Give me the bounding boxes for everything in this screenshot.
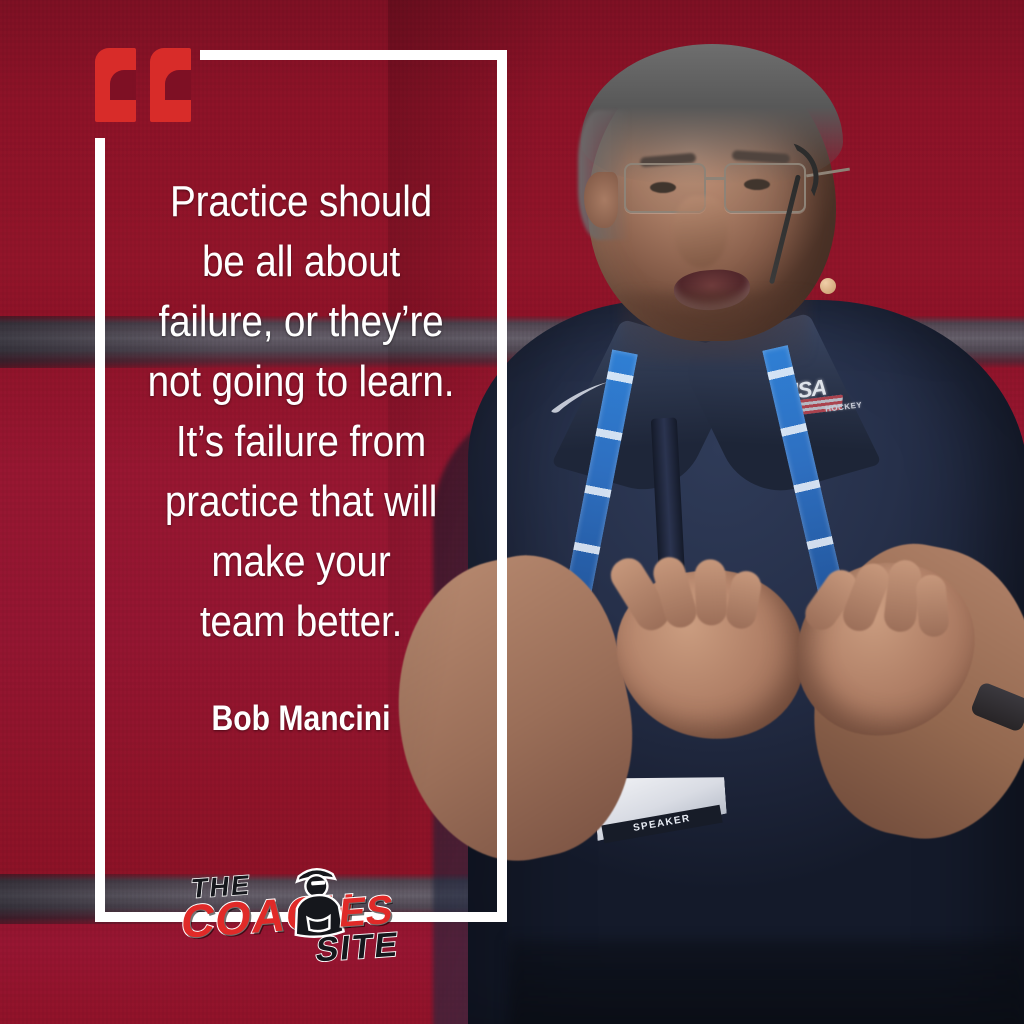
quote-block: Practice should be all about failure, or… xyxy=(108,172,494,740)
finger xyxy=(694,559,727,626)
quote-line: be all about xyxy=(131,232,471,292)
usa-patch-subtext: HOCKEY xyxy=(825,401,863,413)
quote-glyph-right xyxy=(150,48,191,122)
quote-line: Practice should xyxy=(131,172,471,232)
quote-text: Practice should be all about failure, or… xyxy=(131,172,471,652)
quote-line: make your xyxy=(131,532,471,592)
brand-logo[interactable]: THE COACH ES SITE xyxy=(174,857,437,991)
quote-line: failure, or they’re xyxy=(131,292,471,352)
open-quote-icon xyxy=(95,48,191,122)
headset-mic-icon xyxy=(820,278,836,294)
quote-line: practice that will xyxy=(131,472,471,532)
finger xyxy=(915,574,950,638)
ear xyxy=(584,172,618,228)
lower-body-shadow xyxy=(508,940,1024,1024)
quote-line: It’s failure from xyxy=(131,412,471,472)
quote-graphic-canvas: USA HOCKEY SPEAKER xyxy=(0,0,1024,1024)
quote-line: not going to learn. xyxy=(131,352,471,412)
nose xyxy=(674,196,728,268)
quote-line: team better. xyxy=(131,592,471,652)
finger xyxy=(724,569,764,631)
logo-word-site: SITE xyxy=(314,927,401,967)
glasses-bridge xyxy=(704,177,726,180)
quote-glyph-left xyxy=(95,48,136,122)
quote-attribution: Bob Mancini xyxy=(135,698,467,740)
